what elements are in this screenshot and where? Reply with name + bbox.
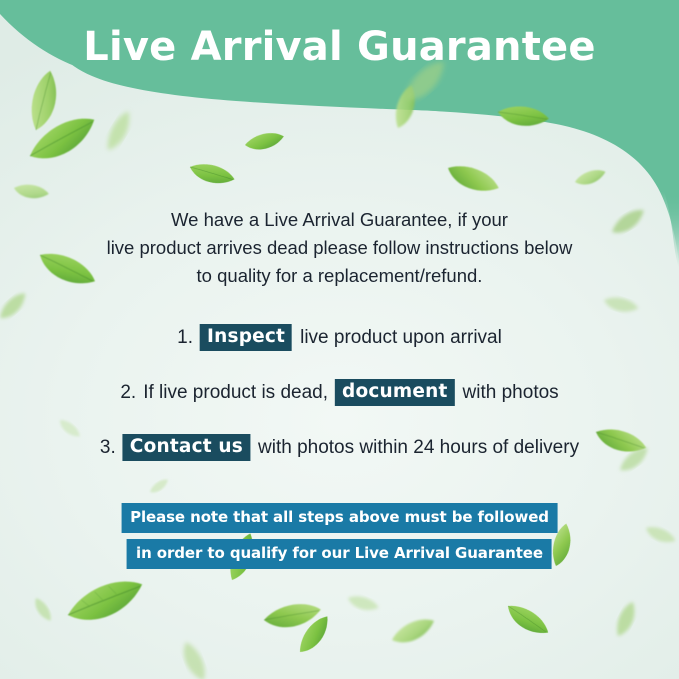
main-content: We have a Live Arrival Guarantee, if you… <box>0 0 679 679</box>
step-item-3: 3. Contact us with photos within 24 hour… <box>100 434 579 461</box>
step-number-2: 2. <box>120 380 136 406</box>
step-number-3: 3. <box>100 435 116 461</box>
step-text-1: live product upon arrival <box>300 325 502 351</box>
note-line-1: Please note that all steps above must be… <box>121 503 558 533</box>
intro-paragraph: We have a Live Arrival Guarantee, if you… <box>70 206 610 290</box>
step-text-2-pre: If live product is dead, <box>143 380 328 406</box>
note-callout: Please note that all steps above must be… <box>121 503 558 569</box>
intro-line-2: live product arrives dead please follow … <box>70 234 610 262</box>
step-number-1: 1. <box>177 325 193 351</box>
step-highlight-contact-us[interactable]: Contact us <box>123 434 250 461</box>
step-highlight-document[interactable]: document <box>335 379 455 406</box>
step-highlight-inspect[interactable]: Inspect <box>200 324 292 351</box>
step-text-3: with photos within 24 hours of delivery <box>258 435 579 461</box>
note-line-2: in order to qualify for our Live Arrival… <box>127 539 552 569</box>
step-text-2-post: with photos <box>463 380 559 406</box>
step-item-2: 2. If live product is dead, document wit… <box>120 379 558 406</box>
intro-line-3: to quality for a replacement/refund. <box>70 262 610 290</box>
live-arrival-guarantee-poster: Live Arrival Guarantee We have a Live Ar… <box>0 0 679 679</box>
step-item-1: 1. Inspect live product upon arrival <box>177 324 502 351</box>
intro-line-1: We have a Live Arrival Guarantee, if you… <box>70 206 610 234</box>
